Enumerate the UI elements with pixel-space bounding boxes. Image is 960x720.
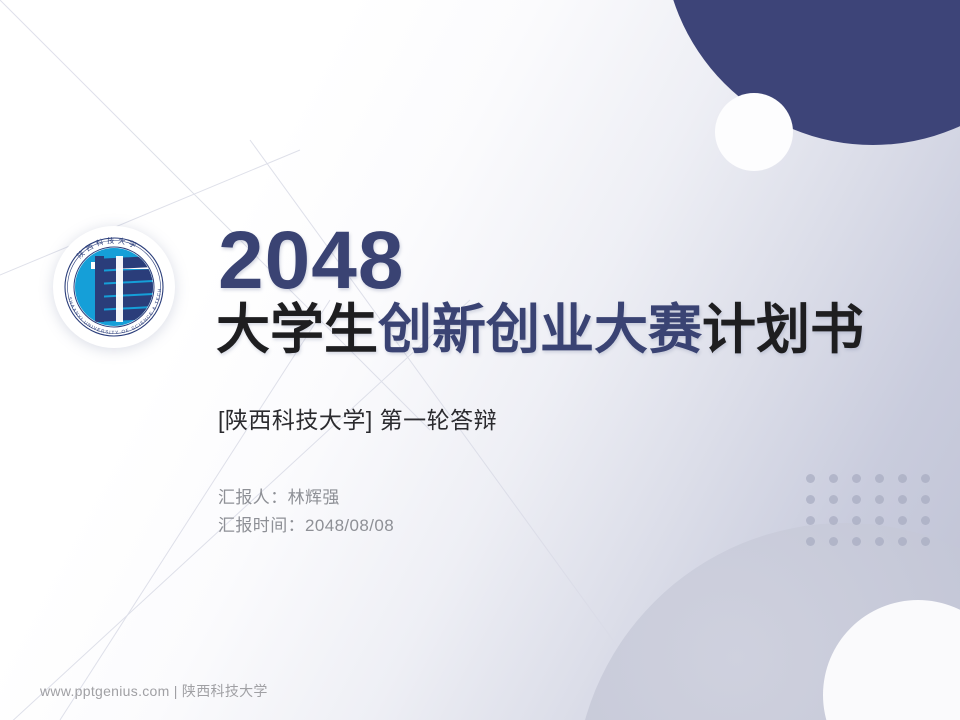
date-line: 汇报时间：2048/08/08	[218, 512, 916, 540]
presentation-slide: 陕西科技大学 SHAANXI UNIVERSITY OF SCIENCE & T…	[0, 0, 960, 720]
subtitle: [陕西科技大学] 第一轮答辩	[218, 401, 916, 435]
title-block: 2048 大学生创新创业大赛计划书 [陕西科技大学] 第一轮答辩 汇报人：林辉强…	[216, 222, 916, 539]
year-heading: 2048	[218, 222, 916, 300]
main-headline: 大学生创新创业大赛计划书	[216, 302, 916, 359]
navy-circle-decoration	[663, 0, 960, 145]
university-logo: 陕西科技大学 SHAANXI UNIVERSITY OF SCIENCE & T…	[53, 226, 175, 348]
headline-accent: 创新创业大赛	[378, 300, 702, 360]
meta-block: 汇报人：林辉强 汇报时间：2048/08/08	[218, 484, 916, 539]
presenter-line: 汇报人：林辉强	[218, 484, 916, 512]
white-dot-decoration	[715, 93, 793, 171]
headline-tail: 计划书	[702, 300, 864, 360]
headline-lead: 大学生	[216, 300, 378, 360]
university-seal-icon: 陕西科技大学 SHAANXI UNIVERSITY OF SCIENCE & T…	[53, 226, 175, 348]
footer-credit: www.pptgenius.com | 陕西科技大学	[40, 681, 268, 701]
